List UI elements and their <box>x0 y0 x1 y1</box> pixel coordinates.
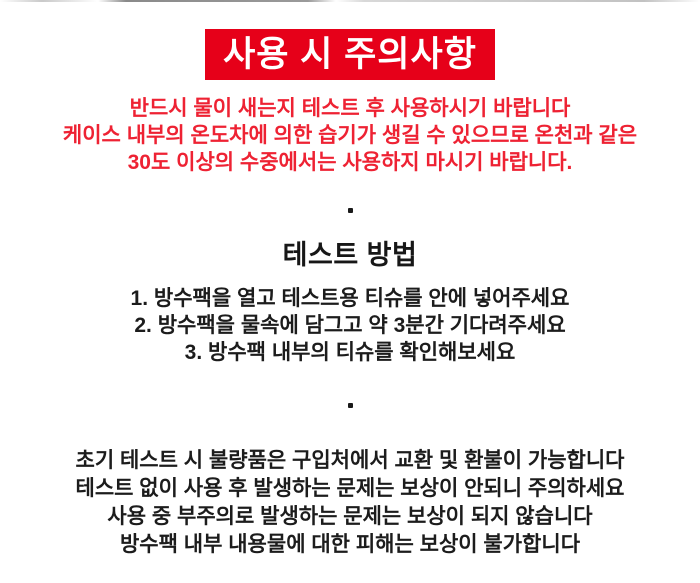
bullet-dot-icon <box>348 208 353 213</box>
warning-line-2: 케이스 내부의 온도차에 의한 습기가 생길 수 있으므로 온천과 같은 <box>0 122 700 149</box>
test-steps-list: 1. 방수팩을 열고 테스트용 티슈를 안에 넣어주세요 2. 방수팩을 물속에… <box>0 285 700 366</box>
test-step-1: 1. 방수팩을 열고 테스트용 티슈를 안에 넣어주세요 <box>0 285 700 312</box>
test-step-3: 3. 방수팩 내부의 티슈를 확인해보세요 <box>0 339 700 366</box>
policy-note-4: 방수팩 내부 내용물에 대한 피해는 보상이 불가합니다 <box>0 531 700 559</box>
policy-note-2: 테스트 없이 사용 후 발생하는 문제는 보상이 안되니 주의하세요 <box>0 475 700 503</box>
instruction-graphic: 사용 시 주의사항 반드시 물이 새는지 테스트 후 사용하시기 바랍니다 케이… <box>0 0 700 583</box>
separator-dot-second <box>0 401 700 411</box>
policy-note-3: 사용 중 부주의로 발생하는 문제는 보상이 되지 않습니다 <box>0 503 700 531</box>
top-edge-hairline <box>0 0 700 2</box>
warning-text-block: 반드시 물이 새는지 테스트 후 사용하시기 바랍니다 케이스 내부의 온도차에… <box>0 95 700 176</box>
test-step-2: 2. 방수팩을 물속에 담그고 약 3분간 기다려주세요 <box>0 312 700 339</box>
title-banner: 사용 시 주의사항 <box>205 29 495 80</box>
title-banner-container: 사용 시 주의사항 <box>0 29 700 80</box>
separator-dot-first <box>0 206 700 216</box>
warning-line-1: 반드시 물이 새는지 테스트 후 사용하시기 바랍니다 <box>0 95 700 122</box>
bullet-dot-icon <box>348 403 353 408</box>
policy-note-1: 초기 테스트 시 불량품은 구입처에서 교환 및 환불이 가능합니다 <box>0 447 700 475</box>
policy-notes-block: 초기 테스트 시 불량품은 구입처에서 교환 및 환불이 가능합니다 테스트 없… <box>0 447 700 559</box>
test-method-heading: 테스트 방법 <box>0 238 700 272</box>
warning-line-3: 30도 이상의 수중에서는 사용하지 마시기 바랍니다. <box>0 149 700 176</box>
